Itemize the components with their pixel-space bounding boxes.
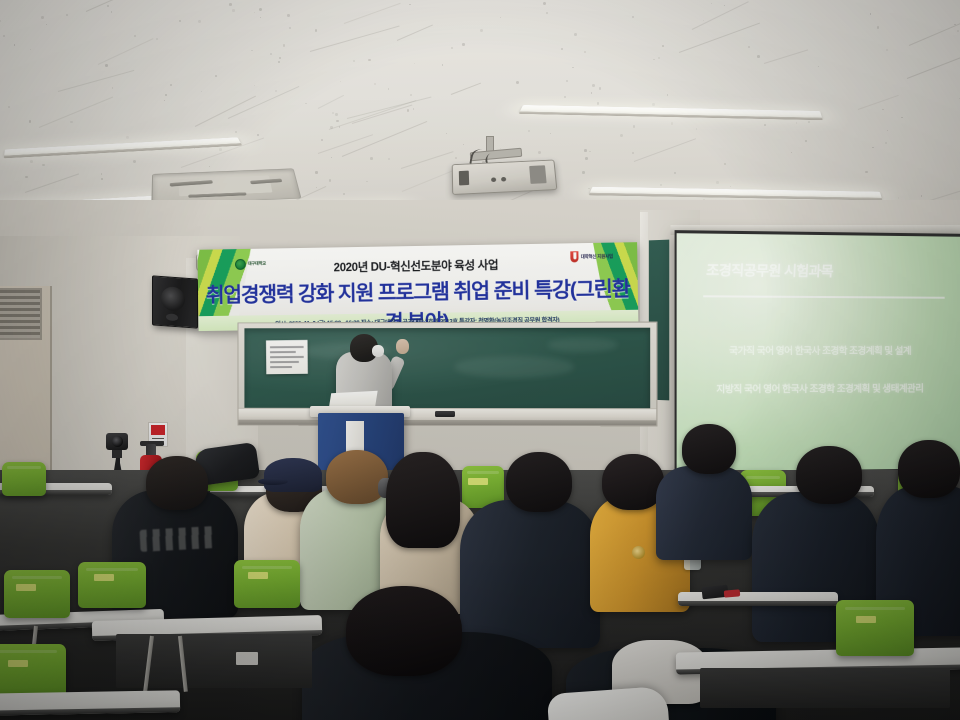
ceiling-texture-speck — [343, 193, 345, 195]
ceiling-tile-seam — [310, 26, 399, 52]
ceiling-texture-speck — [696, 128, 698, 130]
attendee-navy-blazer-body — [656, 466, 752, 560]
ceiling-texture-speck — [716, 181, 719, 184]
attendee-far-right-head — [898, 440, 960, 498]
blackboard-notice — [266, 340, 308, 374]
ceiling-texture-speck — [703, 20, 704, 21]
ceiling-texture-speck — [316, 187, 317, 188]
ceiling-texture-speck — [887, 130, 888, 131]
ceiling-texture-speck — [251, 50, 252, 51]
ceiling-texture-speck — [164, 100, 165, 101]
ceiling-texture-speck — [321, 139, 323, 141]
ceiling-texture-speck — [564, 96, 566, 98]
ceiling-texture-speck — [101, 173, 103, 175]
chair-back-left[interactable] — [2, 462, 46, 496]
attendee-navy-right-head — [796, 446, 862, 504]
camera-mount — [112, 449, 122, 458]
ceiling-texture-speck — [170, 84, 172, 86]
ceiling-texture-speck — [229, 3, 232, 6]
ceiling-texture-speck — [287, 14, 290, 17]
ceiling-texture-speck — [584, 51, 586, 53]
ceiling-texture-speck — [585, 157, 588, 160]
ceiling-texture-speck — [632, 152, 634, 154]
ceiling-tile-seam — [679, 23, 760, 53]
ceiling-texture-speck — [757, 55, 760, 58]
chair-label — [856, 616, 876, 623]
blackboard-eraser[interactable] — [435, 411, 455, 417]
chair-label — [468, 478, 488, 485]
attendee-navy-cap — [264, 458, 322, 492]
desk-item-red — [724, 589, 741, 597]
ceiling-texture-speck — [561, 48, 563, 50]
presenter-hand — [396, 339, 409, 354]
ceiling-texture-speck — [14, 44, 15, 45]
ceiling-texture-speck — [500, 17, 501, 18]
ceiling-texture-speck — [156, 38, 158, 40]
ceiling-tile-seam — [634, 138, 696, 162]
ceiling-texture-speck — [289, 27, 291, 29]
ceiling-tile-seam — [907, 48, 960, 79]
ceiling-texture-speck — [582, 171, 584, 173]
ceiling-tile-seam — [38, 97, 112, 128]
attendee-long-hair-head — [386, 452, 460, 548]
ceiling-texture-speck — [111, 11, 112, 12]
ceiling-texture-speck — [584, 149, 587, 152]
attendee-navy-blazer-head — [682, 424, 736, 474]
attendee-black-puffer-head — [146, 456, 208, 510]
ceiling-texture-speck — [209, 166, 211, 168]
ceiling-texture-speck — [566, 80, 569, 83]
ceiling-texture-speck — [107, 5, 108, 6]
ceiling-texture-speck — [329, 179, 332, 182]
ceiling-texture-speck — [658, 57, 660, 59]
ceiling-tile-seam — [58, 70, 134, 92]
ceiling-texture-speck — [201, 91, 202, 92]
chair-label — [248, 572, 268, 579]
ceiling-texture-speck — [764, 124, 766, 126]
ceiling-tile-seam — [691, 1, 748, 30]
ceiling-texture-speck — [898, 197, 900, 199]
ceiling-texture-speck — [671, 122, 674, 125]
ceiling-texture-speck — [589, 151, 591, 153]
ceiling-tile-seam — [318, 134, 373, 154]
ceiling-texture-speck — [574, 33, 577, 36]
ceiling-texture-speck — [886, 49, 889, 52]
ceiling-texture-speck — [791, 152, 792, 153]
ceiling-texture-speck — [921, 195, 922, 196]
ceiling-texture-speck — [3, 35, 5, 37]
ceiling-texture-speck — [133, 160, 136, 163]
ceiling-texture-speck — [446, 133, 447, 134]
speaker-tweeter-icon — [166, 313, 178, 321]
ceiling-tile-seam — [397, 25, 434, 42]
ceiling-texture-speck — [42, 164, 45, 167]
ceiling-texture-speck — [667, 94, 669, 96]
ceiling-tile-seam — [25, 173, 79, 193]
ceiling-tile-seam — [401, 151, 453, 169]
ceiling-texture-speck — [315, 171, 317, 173]
ceiling-texture-speck — [724, 5, 725, 6]
ceiling-texture-speck — [335, 113, 338, 116]
ceiling-texture-speck — [66, 14, 68, 16]
attendee-mustard-head — [602, 454, 664, 510]
ceiling-texture-speck — [275, 90, 277, 92]
ceiling-texture-speck — [70, 121, 73, 124]
ceiling-texture-speck — [101, 178, 103, 180]
ceiling-texture-speck — [270, 53, 272, 55]
ceiling-texture-speck — [179, 20, 181, 22]
ceiling-texture-speck — [516, 81, 519, 84]
ceiling-texture-speck — [25, 176, 28, 179]
ceiling-texture-speck — [219, 148, 222, 151]
cap-brim — [258, 478, 288, 485]
ceiling-tile-seam — [318, 95, 344, 109]
ceiling-texture-speck — [126, 136, 129, 139]
ceiling-tile-seam — [195, 95, 256, 126]
ceiling-texture-speck — [165, 94, 167, 96]
ceiling-tile-seam — [451, 83, 481, 95]
ceiling-texture-speck — [730, 186, 731, 187]
attendee-navy-left-head — [506, 452, 572, 512]
ceiling-texture-speck — [652, 103, 655, 106]
ceiling-texture-speck — [870, 13, 872, 15]
ceiling-tile-seam — [346, 97, 430, 119]
ceiling-tile-seam — [344, 3, 401, 24]
ceiling-texture-speck — [368, 59, 371, 62]
blackboard — [238, 322, 658, 427]
ceiling-tile-seam — [98, 38, 154, 65]
ceiling-tile-seam — [909, 16, 960, 45]
chair-front-mid[interactable] — [78, 562, 146, 608]
ceiling-texture-speck — [257, 134, 259, 136]
chair-front-right[interactable] — [836, 600, 914, 656]
ceiling-texture-speck — [591, 92, 593, 94]
ceiling-texture-speck — [134, 35, 137, 38]
ceiling-texture-speck — [340, 81, 341, 82]
ceiling-texture-speck — [413, 108, 414, 109]
ceiling-texture-speck — [46, 24, 47, 25]
ceiling-texture-speck — [480, 29, 483, 32]
ceiling-texture-speck — [283, 44, 285, 46]
ceiling-texture-speck — [572, 67, 573, 68]
ceiling-texture-speck — [374, 83, 377, 86]
wall-speaker — [152, 275, 198, 328]
ceiling-texture-speck — [278, 61, 280, 63]
ceiling-tile-seam — [86, 0, 146, 11]
ceiling-texture-speck — [528, 130, 530, 132]
attendee-sage-sweater-head — [326, 450, 388, 504]
ceiling-texture-speck — [332, 112, 334, 114]
chair-label — [16, 584, 36, 591]
ceiling-texture-speck — [305, 103, 306, 104]
ceiling-texture-speck — [660, 184, 662, 186]
ceiling-texture-speck — [546, 12, 549, 15]
ceiling-texture-speck — [407, 109, 410, 112]
ceiling-texture-speck — [442, 64, 443, 65]
ceiling-texture-speck — [8, 106, 10, 108]
blackboard-surface — [244, 328, 650, 410]
door-vent-grille — [0, 288, 42, 340]
ceiling-texture-speck — [885, 142, 887, 144]
chalk-tray — [239, 408, 657, 426]
ceiling-texture-speck — [748, 46, 750, 48]
ceiling-texture-speck — [808, 121, 810, 123]
ceiling-texture-speck — [796, 122, 798, 124]
ceiling-texture-speck — [877, 26, 880, 29]
video-camera — [106, 433, 128, 450]
chair-label — [8, 660, 28, 667]
ceiling-texture-speck — [198, 20, 200, 22]
ceiling-texture-speck — [599, 87, 602, 90]
ceiling-texture-speck — [818, 66, 820, 68]
ceiling-texture-speck — [410, 94, 412, 96]
ceiling-texture-speck — [353, 60, 355, 62]
ceiling-texture-speck — [674, 172, 675, 173]
ceiling-texture-speck — [105, 64, 108, 67]
event-banner: 대구대학교 대학혁신 지원사업 2020년 DU-혁신선도분야 육성 사업 취업… — [197, 242, 638, 331]
ceiling-texture-speck — [260, 17, 261, 18]
ceiling-texture-speck — [455, 157, 457, 159]
ceiling-texture-speck — [662, 45, 664, 47]
ceiling-texture-speck — [336, 120, 338, 122]
ceiling-tile-seam — [858, 95, 899, 110]
attendee-black-puffer-logo — [139, 526, 214, 552]
attendee-front-dark-head — [346, 586, 462, 676]
ceiling-texture-speck — [872, 147, 874, 149]
ceiling-texture-speck — [29, 120, 31, 122]
ceiling-projector — [452, 160, 558, 195]
desk-label-tag — [236, 652, 258, 665]
ceiling-texture-speck — [0, 20, 1, 22]
attendee-navy-left-body — [460, 500, 600, 648]
ceiling-tile-seam — [764, 50, 808, 65]
desk-modesty-panel-right — [700, 668, 950, 708]
ceiling-texture-speck — [112, 87, 113, 88]
ceiling-texture-speck — [653, 59, 655, 61]
ceiling-texture-speck — [370, 157, 373, 160]
ceiling-texture-speck — [592, 84, 595, 87]
ceiling-texture-speck — [633, 125, 636, 128]
ceiling-texture-speck — [543, 2, 546, 5]
ceiling-texture-speck — [901, 117, 903, 119]
ceiling-texture-speck — [632, 16, 634, 18]
ceiling-texture-speck — [620, 134, 623, 137]
ceiling-texture-speck — [805, 140, 807, 142]
ceiling-texture-speck — [388, 88, 390, 90]
ceiling-texture-speck — [463, 144, 465, 146]
desk-front-lowest — [0, 690, 180, 715]
chair-front-left[interactable] — [4, 570, 70, 618]
ceiling-texture-speck — [550, 133, 551, 134]
ceiling-texture-speck — [235, 131, 237, 133]
chair-front-mid2[interactable] — [234, 560, 300, 608]
ceiling-texture-speck — [41, 16, 44, 19]
ceiling-texture-speck — [215, 75, 217, 77]
ceiling-texture-speck — [259, 8, 262, 11]
ceiling-texture-speck — [462, 43, 464, 45]
speaker-cone-icon — [161, 286, 185, 312]
ceiling-texture-speck — [30, 160, 33, 163]
ceiling-texture-speck — [957, 30, 959, 32]
ceiling-tile-seam — [228, 86, 300, 119]
ceiling-texture-speck — [865, 171, 868, 174]
ceiling-texture-speck — [331, 157, 332, 158]
ceiling-texture-speck — [882, 109, 884, 111]
presenter-mask — [372, 345, 384, 357]
ceiling-texture-speck — [232, 9, 234, 11]
ceiling-texture-speck — [409, 4, 410, 5]
ceiling-texture-speck — [254, 85, 255, 86]
ceiling-texture-speck — [451, 47, 453, 49]
ceiling-texture-speck — [279, 57, 281, 59]
chair-front-lower-left[interactable] — [0, 644, 66, 698]
chair-label — [94, 574, 114, 581]
ceiling-texture-speck — [711, 3, 713, 5]
ceiling-texture-speck — [366, 181, 367, 182]
lecture-hall-photo: 조경직공무원 시험과목 국가직 국어 영어 한국사 조경학 조경계획 및 설계 … — [0, 0, 960, 720]
ceiling-texture-speck — [315, 29, 317, 31]
ceiling-texture-speck — [254, 12, 255, 13]
ceiling-texture-speck — [538, 151, 541, 154]
ceiling-texture-speck — [388, 158, 390, 160]
ceiling-texture-speck — [588, 188, 589, 189]
ceiling-texture-speck — [30, 49, 31, 50]
mustard-sweater-badge — [632, 546, 645, 559]
ceiling-texture-speck — [724, 163, 726, 165]
ceiling-texture-speck — [597, 102, 599, 104]
ceiling-texture-speck — [194, 148, 195, 149]
camera-lens-icon — [112, 436, 123, 447]
ceiling-texture-speck — [414, 63, 415, 64]
